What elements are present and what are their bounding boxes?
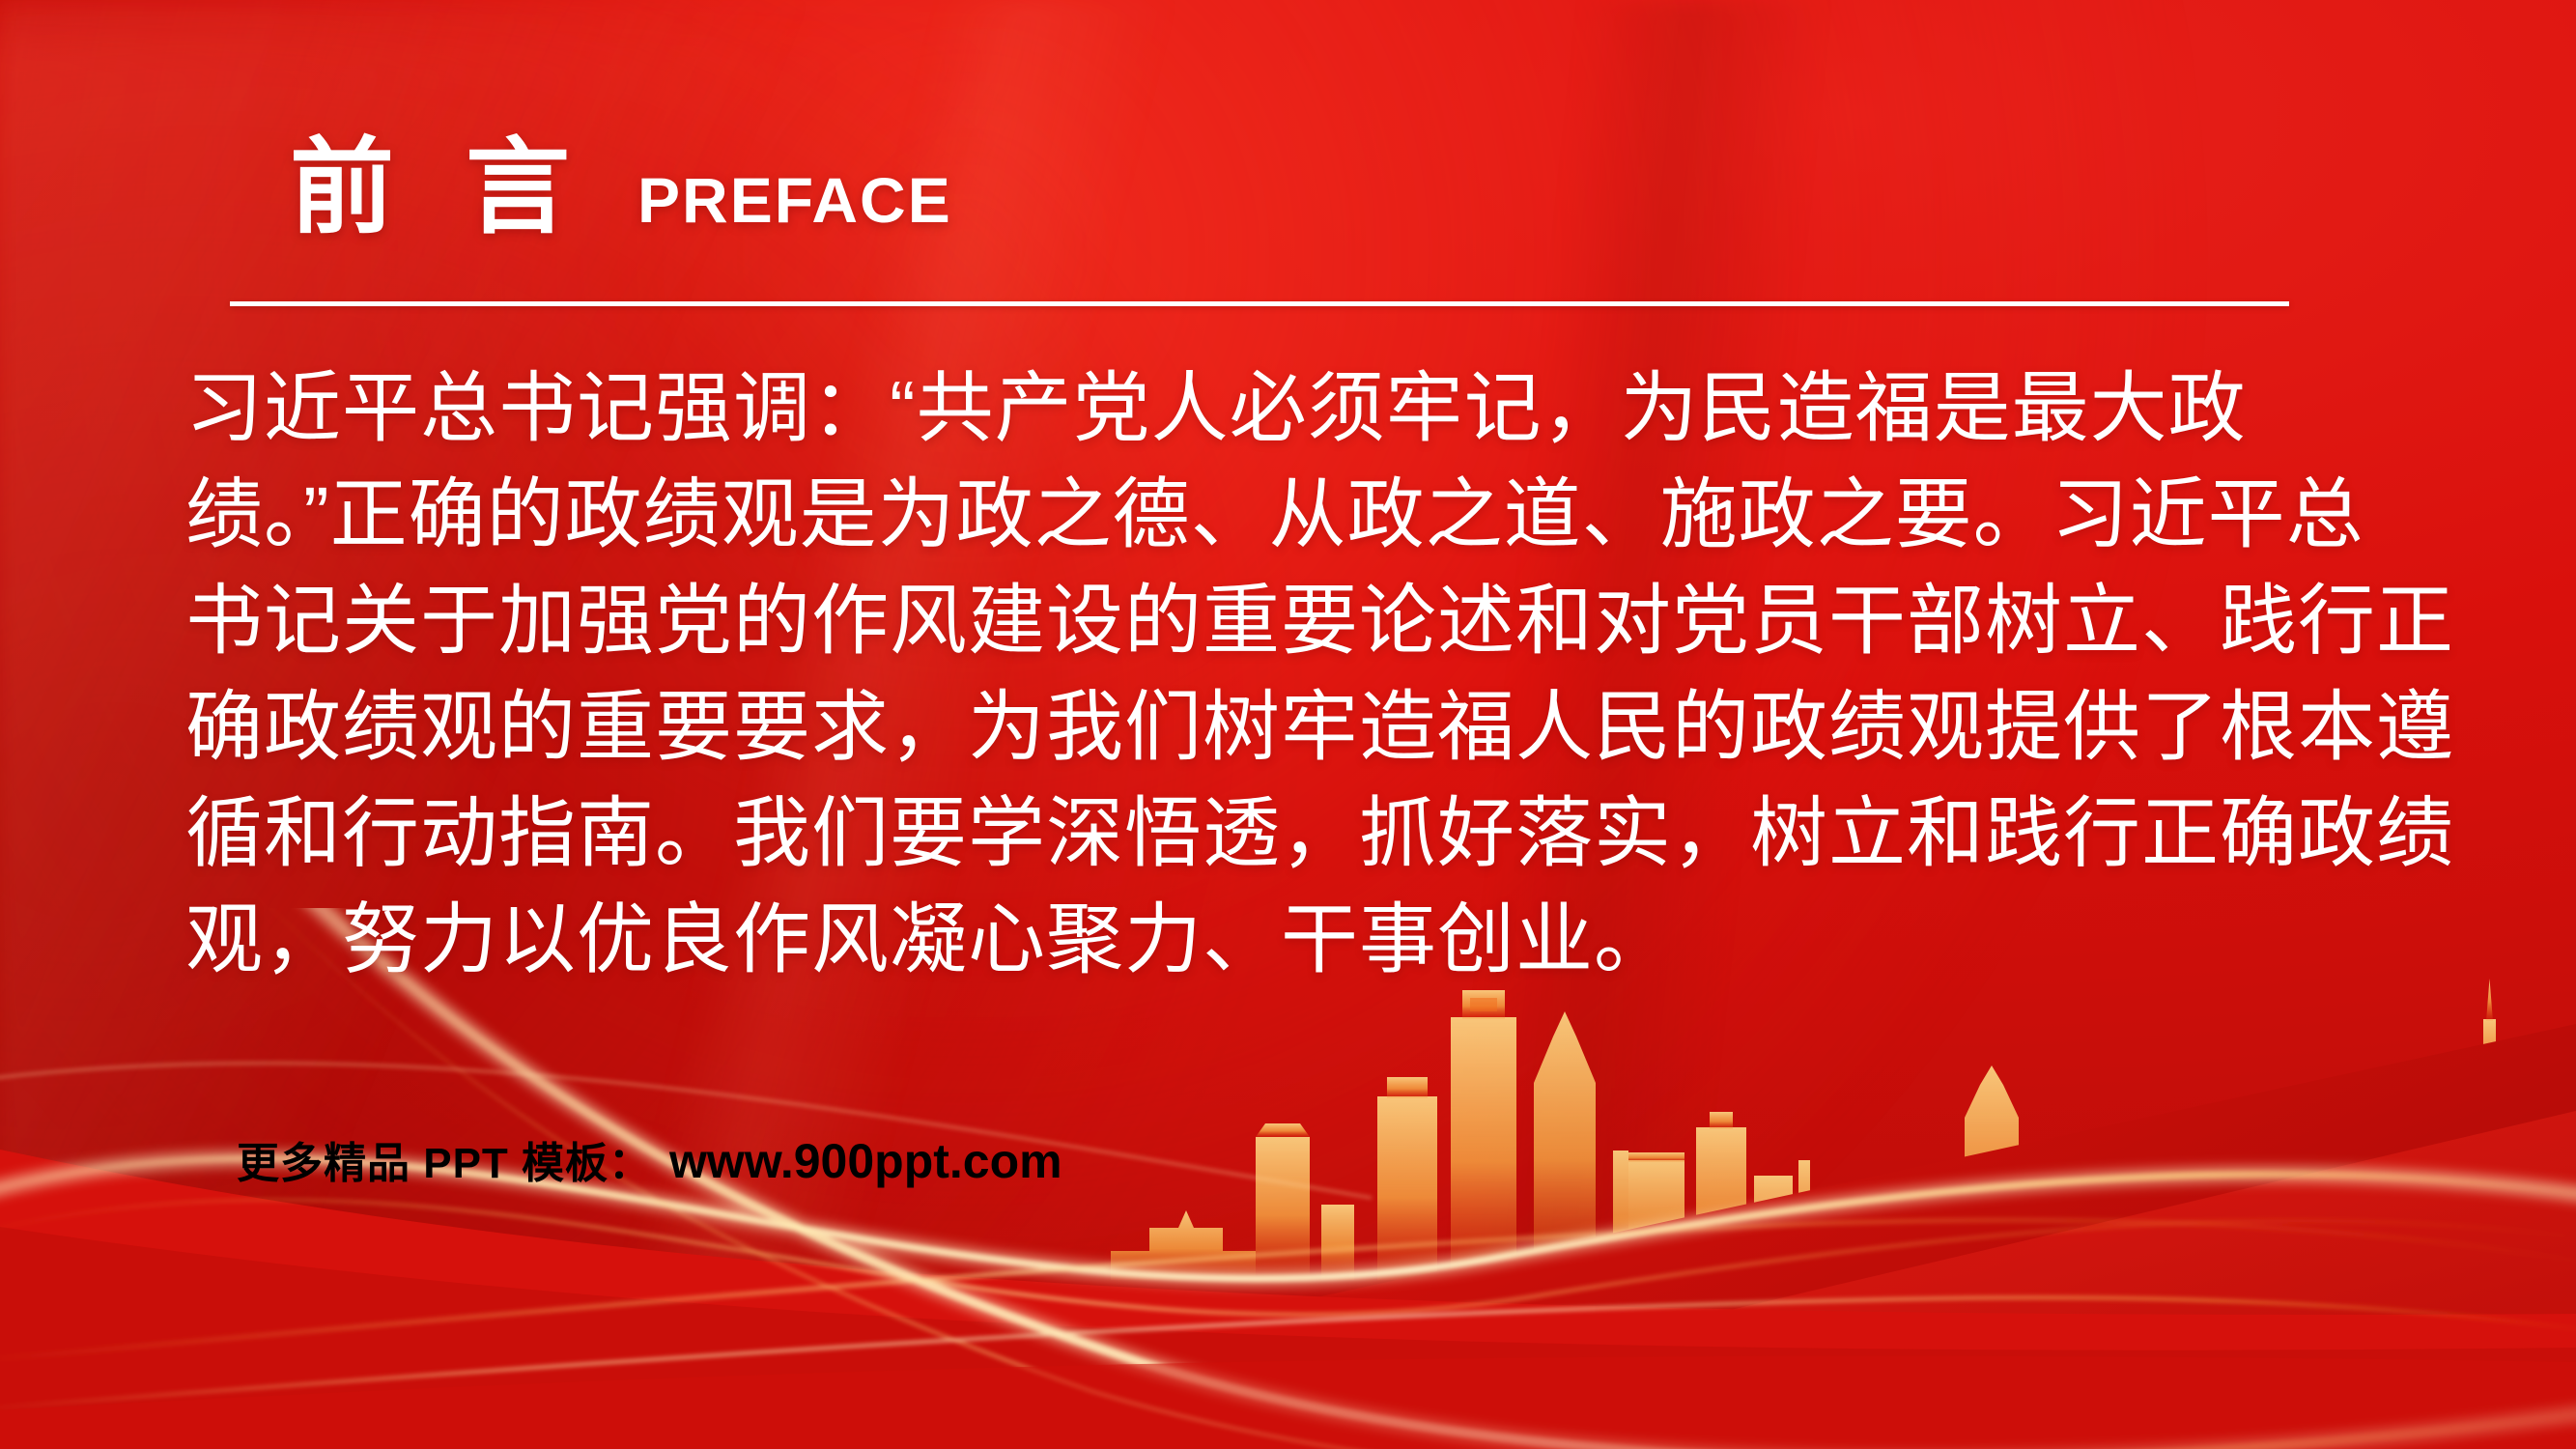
- slide-content: 前 言 PREFACE 习近平总书记强调：“共产党人必须牢记，为民造福是最大政 …: [0, 0, 2576, 1449]
- page-title: 前 言 PREFACE: [290, 135, 952, 240]
- preface-slide: 前 言 PREFACE 习近平总书记强调：“共产党人必须牢记，为民造福是最大政 …: [0, 0, 2576, 1449]
- preface-body: 习近平总书记强调：“共产党人必须牢记，为民造福是最大政 绩。”正确的政绩观是为政…: [185, 355, 2407, 993]
- body-line: 书记关于加强党的作风建设的重要论述和对党员干部树立、践行正: [185, 568, 2407, 674]
- body-line: 习近平总书记强调：“共产党人必须牢记，为民造福是最大政: [185, 355, 2407, 462]
- body-line: 确政绩观的重要要求，为我们树牢造福人民的政绩观提供了根本遵: [185, 674, 2407, 781]
- footer-credit: 更多精品 PPT 模板： www.900ppt.com: [237, 1128, 1062, 1190]
- footer-label: 更多精品 PPT 模板：: [237, 1128, 652, 1190]
- body-line: 循和行动指南。我们要学深悟透，抓好落实，树立和践行正确政绩: [185, 781, 2407, 887]
- body-line: 观，努力以优良作风凝心聚力、干事创业。: [185, 887, 2407, 993]
- title-divider: [230, 301, 2289, 306]
- title-english: PREFACE: [637, 168, 952, 232]
- body-line: 绩。”正确的政绩观是为政之德、从政之道、施政之要。习近平总: [185, 462, 2407, 568]
- title-chinese: 前 言: [290, 135, 591, 240]
- footer-url[interactable]: www.900ppt.com: [669, 1133, 1062, 1189]
